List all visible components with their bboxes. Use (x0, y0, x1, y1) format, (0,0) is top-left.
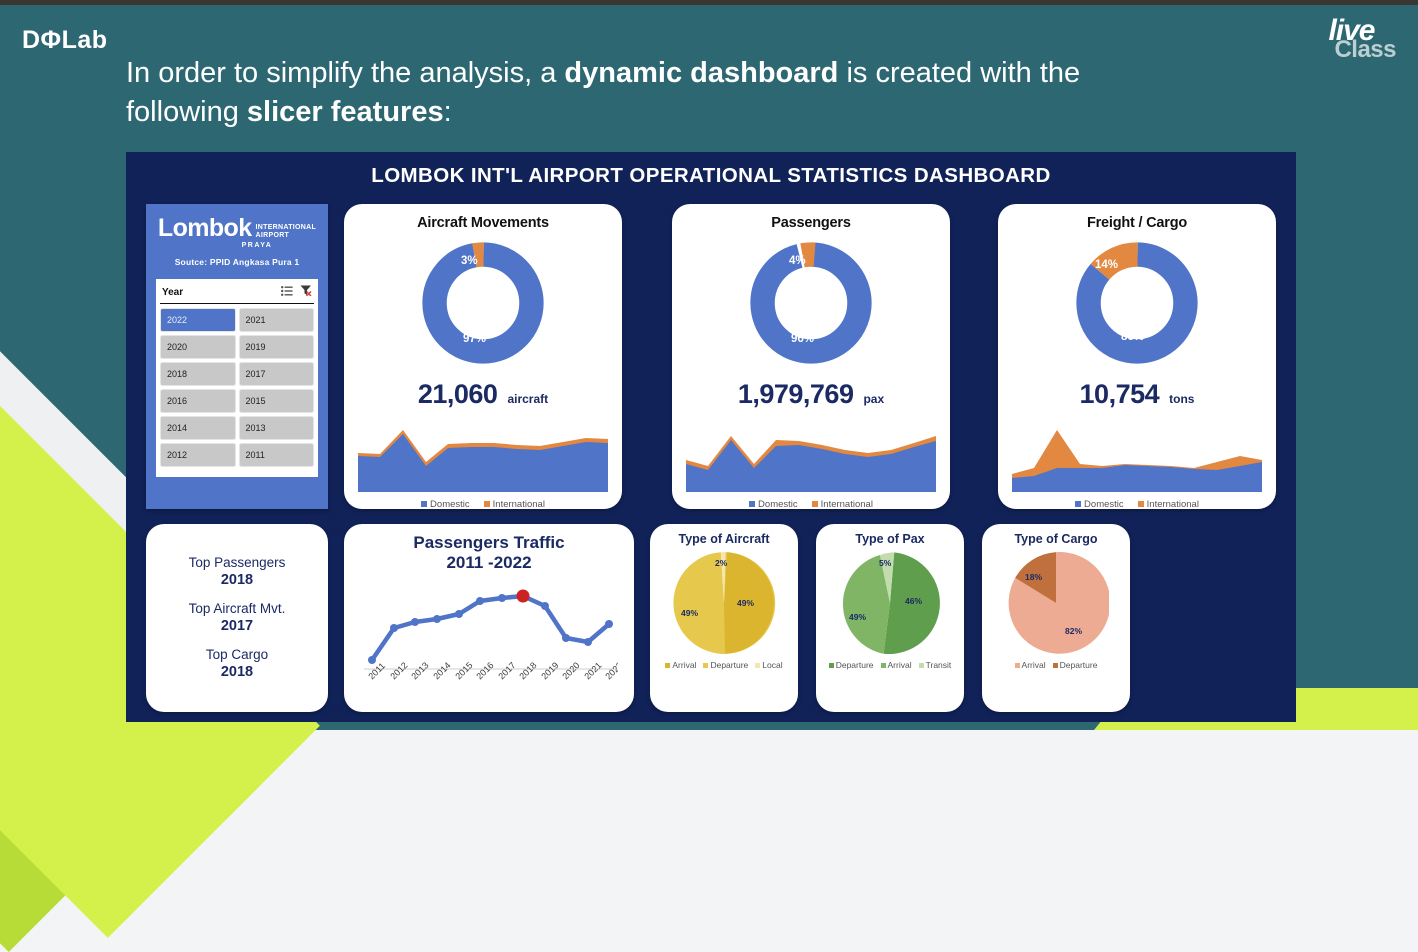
legend-swatch-domestic (749, 501, 755, 507)
headline-part3: : (444, 96, 452, 128)
donut-label-domestic: 97% (463, 333, 486, 345)
clear-filter-icon[interactable] (300, 283, 312, 301)
pie-label-arrival: 49% (681, 608, 698, 618)
pie-legend-item-transit: Transit (919, 660, 952, 670)
pie-label-departure: 18% (1025, 572, 1042, 582)
pie-label-transit: 5% (879, 558, 891, 568)
svg-text:2017: 2017 (496, 660, 517, 681)
year-option-2022[interactable]: 2022 (160, 308, 236, 332)
legend-label-domestic: Domestic (1084, 499, 1124, 510)
year-option-2014[interactable]: 2014 (160, 416, 236, 440)
top-stat-passengers: Top Passengers 2018 (146, 555, 328, 590)
line-chart-title-line1: Passengers Traffic (413, 533, 564, 552)
pie-legend-item-departure: Departure (703, 660, 748, 670)
legend-item-international: International (484, 499, 545, 510)
legend-label-international: International (821, 499, 873, 510)
year-slicer[interactable]: Year (156, 279, 318, 477)
year-slicer-grid: 2022 2021 2020 2019 2018 2017 2016 2015 … (160, 308, 314, 467)
line-chart-plot: 2011 2012 2013 2014 2015 2016 2017 2018 … (360, 576, 618, 701)
pie-legend-label-arrival: Arrival (672, 660, 696, 670)
donut-label-international: 14% (1095, 259, 1118, 271)
top-stat-cargo: Top Cargo 2018 (146, 647, 328, 682)
year-option-2013[interactable]: 2013 (239, 416, 315, 440)
legend-item-domestic: Domestic (1075, 499, 1124, 510)
svg-text:2013: 2013 (409, 660, 430, 681)
legend-aircraft: Domestic International (344, 499, 622, 510)
top-stat-cargo-label: Top Cargo (206, 647, 268, 662)
kpi-unit: aircraft (507, 392, 548, 406)
svg-text:2020: 2020 (560, 660, 581, 681)
pie-card-type-of-cargo[interactable]: Type of Cargo 18% 82% Arrival Departure (982, 524, 1130, 712)
pie-title: Type of Cargo (982, 532, 1130, 546)
kpi-value: 1,979,769 (738, 379, 854, 410)
legend-swatch-international (484, 501, 490, 507)
pie-legend-label-arrival: Arrival (1022, 660, 1046, 670)
lombok-logo-praya: PRAYA (194, 242, 320, 249)
pie-card-type-of-aircraft[interactable]: Type of Aircraft 2% 49% 49% Arrival Depa… (650, 524, 798, 712)
pie-legend-cargo: Arrival Departure (982, 660, 1130, 670)
kpi-value: 21,060 (418, 379, 498, 410)
top-stat-passengers-year: 2018 (146, 571, 328, 589)
pie-legend-item-arrival: Arrival (665, 660, 696, 670)
legend-passengers: Domestic International (672, 499, 950, 510)
legend-item-international: International (812, 499, 873, 510)
lombok-logo-subline1: INTERNATIONAL (256, 224, 317, 233)
area-chart-aircraft (358, 420, 608, 492)
kpi-title: Passengers (672, 215, 950, 231)
passengers-traffic-card[interactable]: Passengers Traffic 2011 -2022 2011 (344, 524, 634, 712)
pie-legend-pax: Departure Arrival Transit (816, 660, 964, 670)
pie-card-type-of-pax[interactable]: Type of Pax 5% 46% 49% Departure Arrival… (816, 524, 964, 712)
pie-chart-pax: 5% 46% 49% (837, 550, 943, 656)
top-edge-strip (0, 0, 1418, 5)
pie-legend-swatch-departure (703, 663, 708, 668)
top-stat-aircraft-label: Top Aircraft Mvt. (189, 601, 286, 616)
pie-legend-label-departure: Departure (836, 660, 874, 670)
legend-item-international: International (1138, 499, 1199, 510)
pie-legend-item-arrival: Arrival (1015, 660, 1046, 670)
donut-label-international: 3% (461, 255, 478, 267)
kpi-card-passengers[interactable]: Passengers 4% 96% 1,979,769 pax (672, 204, 950, 509)
svg-text:2018: 2018 (517, 660, 538, 681)
line-chart-peak-marker (517, 590, 530, 603)
kpi-title: Freight / Cargo (998, 215, 1276, 231)
pie-legend-label-departure: Departure (710, 660, 748, 670)
headline-bold2: slicer features (247, 96, 444, 128)
pie-legend-item-departure: Departure (829, 660, 874, 670)
dashboard-body: Lombok INTERNATIONAL AIRPORT PRAYA Soutc… (126, 194, 1296, 722)
legend-label-domestic: Domestic (430, 499, 470, 510)
donut-chart-passengers: 4% 96% (747, 239, 875, 367)
pie-legend-label-departure: Departure (1060, 660, 1098, 670)
year-option-2016[interactable]: 2016 (160, 389, 236, 413)
top-stat-aircraft-year: 2017 (146, 617, 328, 635)
liveclass-logo-line2: Class (1334, 40, 1396, 60)
lombok-logo-name: Lombok (158, 216, 252, 241)
kpi-card-freight-cargo[interactable]: Freight / Cargo 14% 86% 10,754 tons (998, 204, 1276, 509)
svg-text:2015: 2015 (453, 660, 474, 681)
legend-cargo: Domestic International (998, 499, 1276, 510)
donut-label-international: 4% (789, 255, 806, 267)
lombok-airport-logo: Lombok INTERNATIONAL AIRPORT PRAYA Soutc… (146, 204, 328, 271)
headline-bold1: dynamic dashboard (564, 57, 838, 89)
svg-text:2014: 2014 (431, 660, 452, 681)
pie-legend-swatch-arrival (881, 663, 886, 668)
donut-chart-aircraft: 3% 97% (419, 239, 547, 367)
dashboard-title: LOMBOK INT'L AIRPORT OPERATIONAL STATIST… (126, 152, 1296, 188)
area-chart-passengers (686, 420, 936, 492)
kpi-title: Aircraft Movements (344, 215, 622, 231)
kpi-card-aircraft-movements[interactable]: Aircraft Movements 3% 97% 21,060 aircraf… (344, 204, 622, 509)
svg-text:2019: 2019 (539, 660, 560, 681)
donut-chart-cargo: 14% 86% (1073, 239, 1201, 367)
svg-text:2011: 2011 (366, 661, 387, 682)
year-slicer-label: Year (162, 287, 183, 298)
page-title: In order to simplify the analysis, a dyn… (126, 54, 1106, 132)
dashboard-panel: LOMBOK INT'L AIRPORT OPERATIONAL STATIST… (126, 152, 1296, 722)
donut-label-domestic: 96% (791, 333, 814, 345)
kpi-unit: tons (1169, 392, 1194, 406)
pie-legend-item-local: Local (755, 660, 782, 670)
year-slicer-header: Year (160, 283, 314, 304)
pie-legend-swatch-departure (829, 663, 834, 668)
lombok-source-label: Soutce: PPID Angkasa Pura 1 (154, 257, 320, 267)
top-stats-card: Top Passengers 2018 Top Aircraft Mvt. 20… (146, 524, 328, 712)
legend-swatch-international (812, 501, 818, 507)
pie-chart-aircraft: 2% 49% 49% (671, 550, 777, 656)
lombok-logo-subline2: AIRPORT (256, 232, 317, 241)
pie-label-departure: 46% (905, 596, 922, 606)
pie-legend-swatch-arrival (665, 663, 670, 668)
pie-legend-label-local: Local (762, 660, 782, 670)
legend-swatch-domestic (421, 501, 427, 507)
legend-label-domestic: Domestic (758, 499, 798, 510)
pie-title: Type of Pax (816, 532, 964, 546)
donut-label-domestic: 86% (1121, 331, 1144, 343)
svg-text:2022: 2022 (603, 660, 618, 681)
legend-label-international: International (493, 499, 545, 510)
top-stat-cargo-year: 2018 (146, 663, 328, 681)
year-option-2012[interactable]: 2012 (160, 443, 236, 467)
pie-label-departure: 49% (737, 598, 754, 608)
pie-chart-cargo: 18% 82% (1003, 550, 1109, 656)
pie-legend-label-arrival: Arrival (888, 660, 912, 670)
kpi-value: 10,754 (1080, 379, 1160, 410)
pie-legend-aircraft: Arrival Departure Local (650, 660, 798, 670)
pie-label-arrival: 82% (1065, 626, 1082, 636)
pie-legend-swatch-transit (919, 663, 924, 668)
pie-title: Type of Aircraft (650, 532, 798, 546)
legend-item-domestic: Domestic (749, 499, 798, 510)
year-option-2011[interactable]: 2011 (239, 443, 315, 467)
pie-legend-label-transit: Transit (926, 660, 952, 670)
legend-swatch-domestic (1075, 501, 1081, 507)
year-option-2019[interactable]: 2019 (239, 335, 315, 359)
slicer-panel: Lombok INTERNATIONAL AIRPORT PRAYA Soutc… (146, 204, 328, 509)
year-option-2018[interactable]: 2018 (160, 362, 236, 386)
top-stat-aircraft: Top Aircraft Mvt. 2017 (146, 601, 328, 636)
line-chart-title: Passengers Traffic 2011 -2022 (344, 533, 634, 572)
year-option-2020[interactable]: 2020 (160, 335, 236, 359)
pie-legend-item-departure: Departure (1053, 660, 1098, 670)
legend-swatch-international (1138, 501, 1144, 507)
pie-legend-swatch-arrival (1015, 663, 1020, 668)
line-chart-title-line2: 2011 -2022 (344, 553, 634, 573)
pie-legend-swatch-departure (1053, 663, 1058, 668)
svg-text:2021: 2021 (582, 660, 603, 681)
legend-label-international: International (1147, 499, 1199, 510)
year-option-2021[interactable]: 2021 (239, 308, 315, 332)
pie-label-arrival: 49% (849, 612, 866, 622)
svg-text:2012: 2012 (388, 660, 409, 681)
pie-legend-swatch-local (755, 663, 760, 668)
pie-legend-item-arrival: Arrival (881, 660, 912, 670)
year-option-2015[interactable]: 2015 (239, 389, 315, 413)
kpi-unit: pax (863, 392, 884, 406)
headline-part1: In order to simplify the analysis, a (126, 57, 564, 89)
dqlab-logo: DΦLab (22, 26, 108, 55)
legend-item-domestic: Domestic (421, 499, 470, 510)
liveclass-logo: live Class (1328, 18, 1396, 60)
list-icon[interactable] (281, 283, 293, 301)
pie-label-local: 2% (715, 558, 727, 568)
top-stat-passengers-label: Top Passengers (189, 555, 286, 570)
year-option-2017[interactable]: 2017 (239, 362, 315, 386)
area-chart-cargo (1012, 420, 1262, 492)
svg-text:2016: 2016 (474, 660, 495, 681)
